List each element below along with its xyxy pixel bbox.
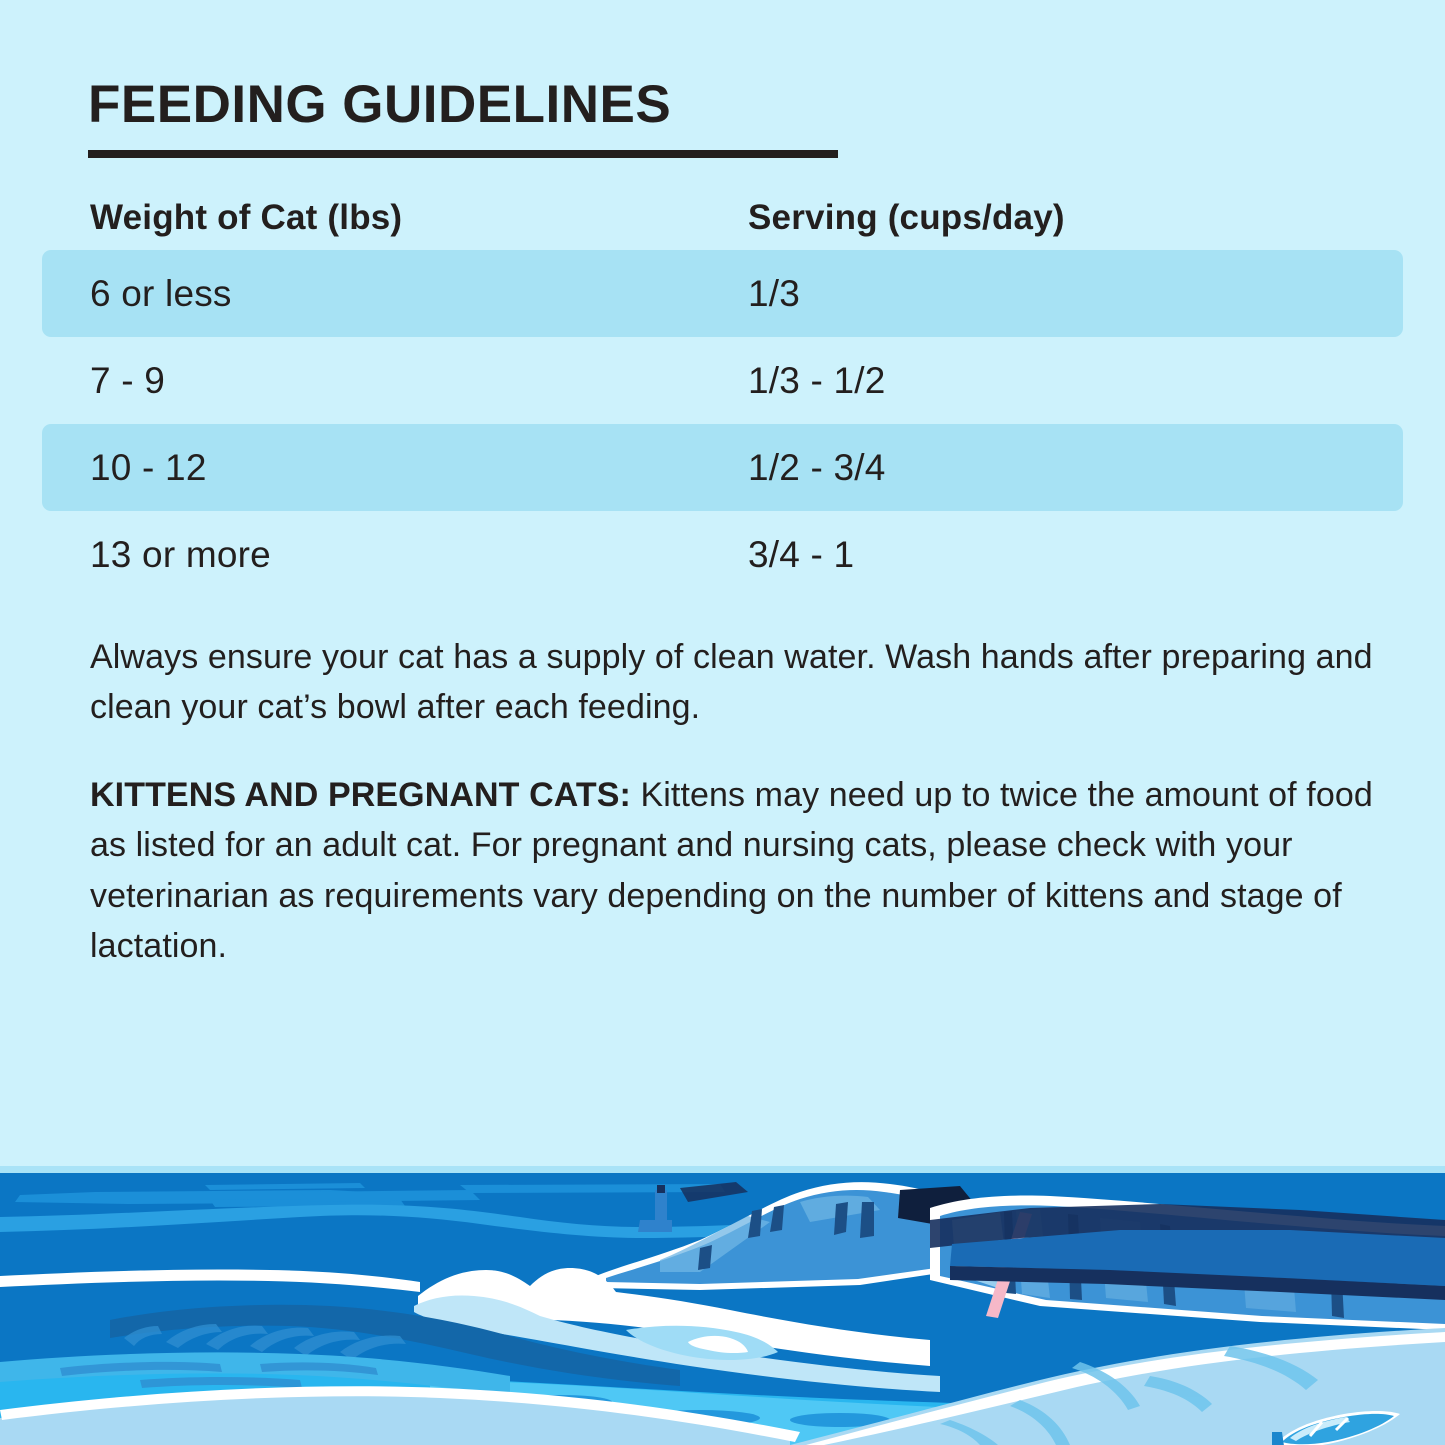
coastal-illustration	[0, 1080, 1445, 1445]
cell-weight: 10 - 12	[90, 424, 207, 511]
table-row: 10 - 12 1/2 - 3/4	[0, 424, 1445, 511]
page-title: FEEDING GUIDELINES	[88, 78, 671, 131]
feeding-table: Weight of Cat (lbs) Serving (cups/day) 6…	[0, 186, 1445, 598]
cell-weight: 7 - 9	[90, 337, 165, 424]
cell-weight: 6 or less	[90, 250, 232, 337]
cell-serving: 1/2 - 3/4	[748, 424, 886, 511]
kittens-note: KITTENS AND PREGNANT CATS: Kittens may n…	[90, 770, 1375, 971]
cell-serving: 1/3	[748, 250, 800, 337]
column-header-weight: Weight of Cat (lbs)	[90, 186, 402, 250]
table-row: 7 - 9 1/3 - 1/2	[0, 337, 1445, 424]
title-underline	[88, 150, 838, 158]
water-note: Always ensure your cat has a supply of c…	[90, 632, 1375, 733]
table-header-row: Weight of Cat (lbs) Serving (cups/day)	[0, 186, 1445, 250]
cell-serving: 1/3 - 1/2	[748, 337, 886, 424]
cell-serving: 3/4 - 1	[748, 511, 854, 598]
feeding-guidelines-panel: FEEDING GUIDELINES Weight of Cat (lbs) S…	[0, 0, 1445, 1445]
coastal-scene-svg	[0, 1080, 1445, 1445]
column-header-serving: Serving (cups/day)	[748, 186, 1065, 250]
cell-weight: 13 or more	[90, 511, 271, 598]
table-row: 6 or less 1/3	[0, 250, 1445, 337]
kittens-note-label: KITTENS AND PREGNANT CATS:	[90, 776, 631, 814]
table-row: 13 or more 3/4 - 1	[0, 511, 1445, 598]
